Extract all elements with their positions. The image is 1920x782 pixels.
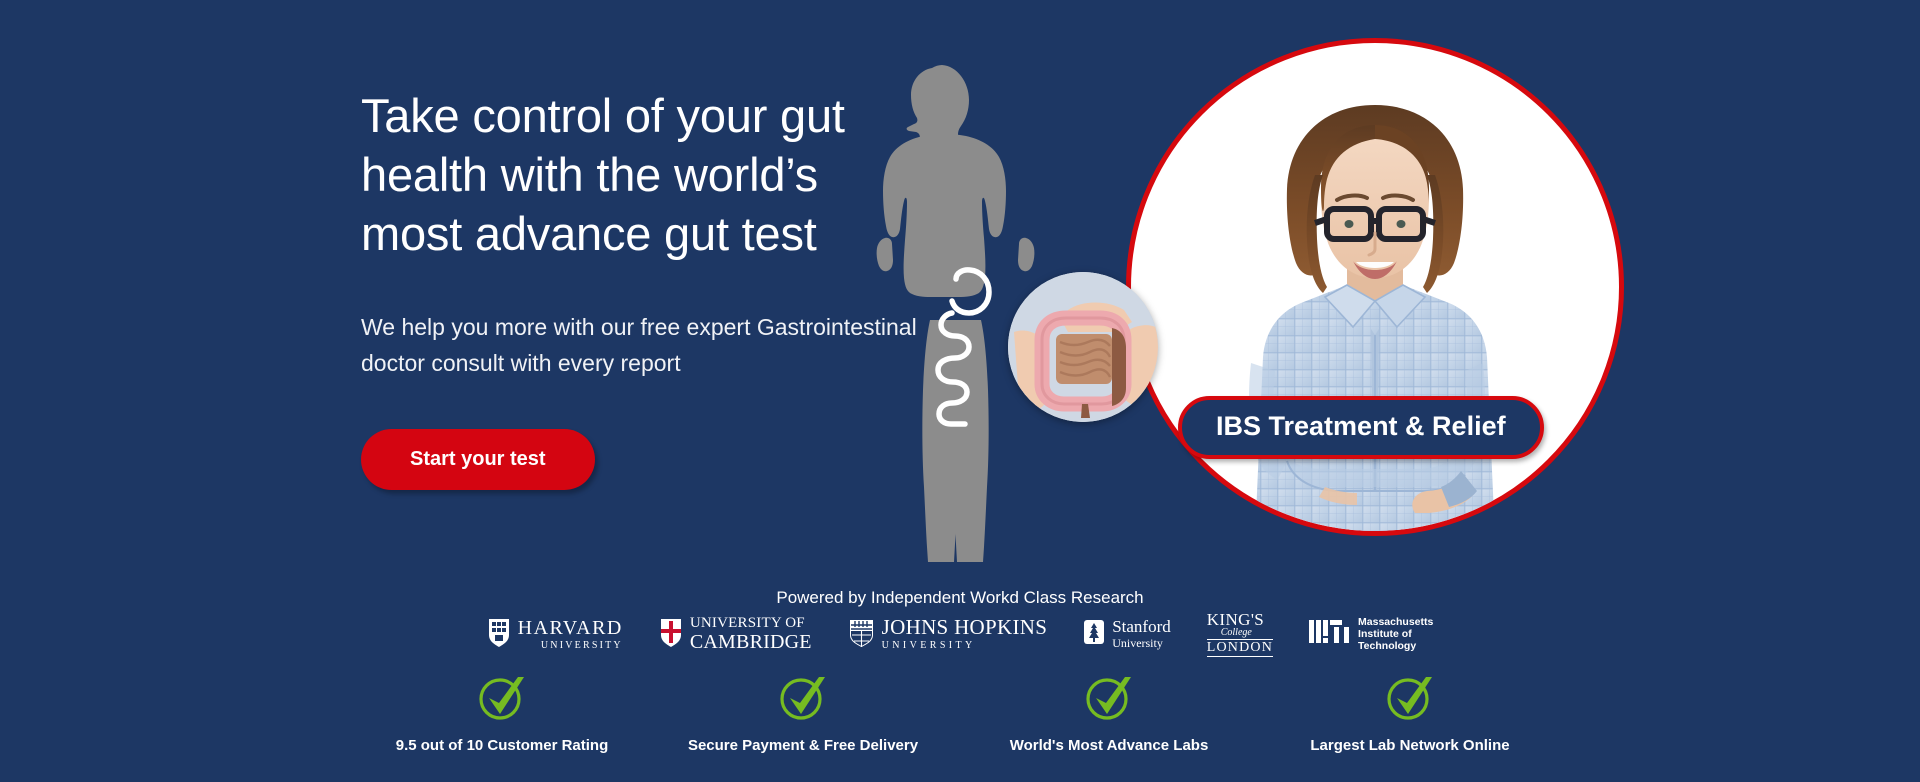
check-circle-icon xyxy=(476,711,528,728)
check-circle-icon xyxy=(1384,711,1436,728)
check-circle-icon xyxy=(1083,711,1135,728)
hero-copy-block: Take control of your gut health with the… xyxy=(361,86,921,490)
trust-badge-customer-rating: 9.5 out of 10 Customer Rating xyxy=(352,672,652,754)
ibs-treatment-badge[interactable]: IBS Treatment & Relief xyxy=(1178,396,1544,459)
cambridge-wordmark: UNIVERSITY OF CAMBRIDGE xyxy=(690,616,812,652)
page-title: Take control of your gut health with the… xyxy=(361,86,921,263)
doctor-photo-circle xyxy=(1126,38,1624,536)
johns-hopkins-wordmark: JOHNS HOPKINS UNIVERSITY xyxy=(882,617,1048,651)
mit-logo-icon xyxy=(1309,618,1351,650)
hero-section: Take control of your gut health with the… xyxy=(0,0,1920,782)
harvard-shield-icon xyxy=(487,617,511,652)
intestine-model-photo xyxy=(1008,272,1158,422)
logo-mit[interactable]: Massachusetts Institute of Technology xyxy=(1309,616,1433,652)
check-circle-icon xyxy=(777,711,829,728)
kings-wordmark: KING'S College LONDON xyxy=(1207,611,1273,657)
mit-wordmark: Massachusetts Institute of Technology xyxy=(1358,616,1433,652)
logo-kings-college-london[interactable]: KING'S College LONDON xyxy=(1207,611,1273,657)
logo-johns-hopkins[interactable]: JOHNS HOPKINS UNIVERSITY xyxy=(848,617,1048,652)
cambridge-shield-icon xyxy=(659,617,683,652)
badge-label: World's Most Advance Labs xyxy=(959,737,1259,754)
start-your-test-button[interactable]: Start your test xyxy=(361,429,595,490)
stanford-wordmark: Stanford University xyxy=(1112,618,1171,649)
powered-by-label: Powered by Independent Workd Class Resea… xyxy=(0,588,1920,608)
logo-stanford[interactable]: Stanford University xyxy=(1083,618,1171,649)
badge-label: Largest Lab Network Online xyxy=(1260,737,1560,754)
trust-badge-advance-labs: World's Most Advance Labs xyxy=(959,672,1259,754)
badge-label: Secure Payment & Free Delivery xyxy=(653,737,953,754)
logo-harvard[interactable]: HARVARD UNIVERSITY xyxy=(487,617,623,652)
logo-cambridge[interactable]: UNIVERSITY OF CAMBRIDGE xyxy=(659,616,812,652)
hero-subcopy: We help you more with our free expert Ga… xyxy=(361,309,921,381)
badge-label: 9.5 out of 10 Customer Rating xyxy=(352,737,652,754)
stanford-tree-icon xyxy=(1083,619,1105,650)
research-logo-row: HARVARD UNIVERSITY UNIVERSITY OF CAMBR xyxy=(0,611,1920,657)
johns-hopkins-shield-icon xyxy=(848,617,875,652)
trust-badge-row: 9.5 out of 10 Customer Rating Secure Pay… xyxy=(0,672,1920,772)
smiling-woman-photo xyxy=(1175,63,1575,536)
harvard-wordmark: HARVARD UNIVERSITY xyxy=(518,618,623,651)
trust-badge-lab-network: Largest Lab Network Online xyxy=(1260,672,1560,754)
trust-badge-secure-payment: Secure Payment & Free Delivery xyxy=(653,672,953,754)
